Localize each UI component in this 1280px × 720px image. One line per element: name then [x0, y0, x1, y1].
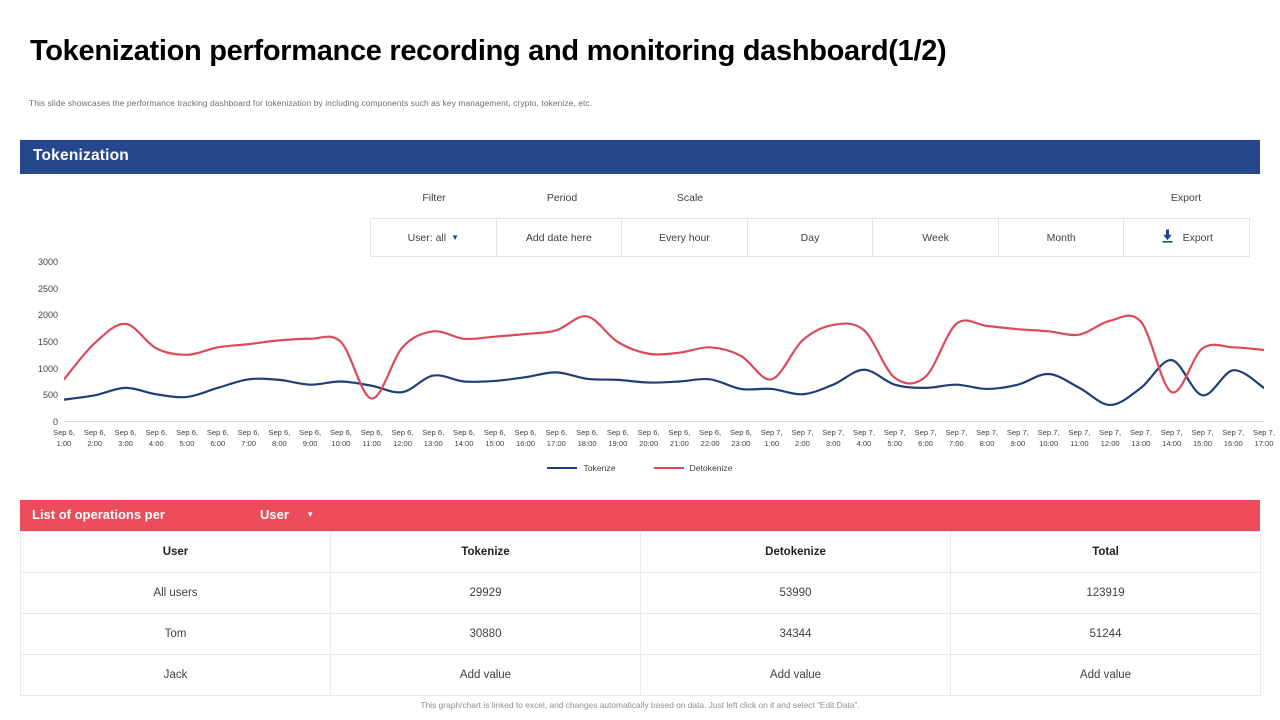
download-icon	[1161, 229, 1174, 246]
section-header-bar: Tokenization	[20, 140, 1260, 174]
x-tick-label: Sep 6, 5:00	[172, 427, 203, 449]
x-tick-label: Sep 6, 14:00	[449, 427, 480, 449]
cell-total: 123919	[951, 573, 1261, 614]
x-tick-label: Sep 6, 8:00	[264, 427, 295, 449]
page-subtitle: This slide showcases the performance tra…	[29, 98, 1229, 108]
legend-item-tokenize: Tokenze	[547, 463, 615, 473]
x-tick-label: Sep 6, 12:00	[387, 427, 418, 449]
scale-week-label: Week	[922, 232, 949, 244]
y-tick-label: 500	[43, 390, 58, 400]
x-tick-label: Sep 7, 11:00	[1064, 427, 1095, 449]
operations-group-dropdown[interactable]: User	[260, 507, 289, 522]
filter-user-label: User: all	[408, 232, 447, 244]
x-tick-label: Sep 6, 6:00	[202, 427, 233, 449]
x-tick-label: Sep 6, 20:00	[633, 427, 664, 449]
scale-every-hour-button[interactable]: Every hour	[621, 219, 747, 256]
x-tick-label: Sep 7, 3:00	[818, 427, 849, 449]
cell-user: All users	[21, 573, 331, 614]
cell-detokenize: 53990	[641, 573, 951, 614]
column-header-detokenize: Detokenize	[641, 532, 951, 573]
y-tick-label: 1500	[38, 337, 58, 347]
chevron-down-icon: ▼	[451, 234, 459, 242]
x-tick-label: Sep 6, 7:00	[233, 427, 264, 449]
scale-month-label: Month	[1047, 232, 1076, 244]
table-row[interactable]: All users 29929 53990 123919	[21, 573, 1261, 614]
table-row[interactable]: Tom 30880 34344 51244	[21, 614, 1261, 655]
scale-every-hour-label: Every hour	[659, 232, 710, 244]
cell-detokenize[interactable]: Add value	[641, 655, 951, 696]
cell-user: Jack	[21, 655, 331, 696]
chart-plot-area	[64, 262, 1264, 422]
x-tick-label: Sep 6, 10:00	[326, 427, 357, 449]
caption-filter: Filter	[370, 192, 498, 204]
legend-label-detokenize: Detokenize	[690, 463, 733, 473]
y-tick-label: 3000	[38, 257, 58, 267]
line-chart: 050010001500200025003000 Sep 6, 1:00Sep …	[20, 262, 1260, 437]
chart-series-line-detokenize	[64, 316, 1264, 399]
y-tick-label: 1000	[38, 364, 58, 374]
page-title: Tokenization performance recording and m…	[30, 36, 1240, 68]
y-tick-label: 0	[53, 417, 58, 427]
column-header-total: Total	[951, 532, 1261, 573]
chart-toolbar: User: all ▼ Add date here Every hour Day…	[370, 218, 1250, 257]
x-tick-label: Sep 7, 8:00	[972, 427, 1003, 449]
cell-tokenize: 30880	[331, 614, 641, 655]
table-header-row: User Tokenize Detokenize Total	[21, 532, 1261, 573]
export-button-label: Export	[1183, 232, 1213, 244]
scale-month-button[interactable]: Month	[998, 219, 1124, 256]
column-header-tokenize: Tokenize	[331, 532, 641, 573]
x-tick-label: Sep 6, 9:00	[295, 427, 326, 449]
x-tick-label: Sep 6, 15:00	[479, 427, 510, 449]
export-button[interactable]: Export	[1123, 219, 1250, 256]
footer-note: This graph/chart is linked to excel, and…	[0, 700, 1280, 710]
x-tick-label: Sep 7, 10:00	[1033, 427, 1064, 449]
x-tick-label: Sep 6, 16:00	[510, 427, 541, 449]
legend-swatch-tokenize	[547, 467, 577, 469]
x-tick-label: Sep 7, 15:00	[1187, 427, 1218, 449]
toolbar-captions: Filter Period Scale Export	[370, 192, 1250, 210]
x-tick-label: Sep 6, 23:00	[726, 427, 757, 449]
cell-tokenize: 29929	[331, 573, 641, 614]
caption-export: Export	[1122, 192, 1250, 204]
x-tick-label: Sep 7, 17:00	[1249, 427, 1280, 449]
period-date-input[interactable]: Add date here	[496, 219, 622, 256]
operations-header-bar: List of operations per User ▾	[20, 500, 1260, 531]
legend-label-tokenize: Tokenze	[583, 463, 615, 473]
chevron-down-icon[interactable]: ▾	[308, 509, 313, 520]
x-tick-label: Sep 6, 2:00	[79, 427, 110, 449]
caption-scale: Scale	[626, 192, 754, 204]
filter-user-dropdown[interactable]: User: all ▼	[370, 219, 496, 256]
chart-legend: Tokenze Detokenize	[20, 459, 1260, 477]
x-tick-label: Sep 7, 6:00	[910, 427, 941, 449]
slide-root: Tokenization performance recording and m…	[0, 0, 1280, 720]
x-tick-label: Sep 6, 13:00	[418, 427, 449, 449]
legend-swatch-detokenize	[654, 467, 684, 469]
column-header-user: User	[21, 532, 331, 573]
chart-y-axis: 050010001500200025003000	[20, 262, 58, 422]
cell-detokenize: 34344	[641, 614, 951, 655]
x-tick-label: Sep 6, 4:00	[141, 427, 172, 449]
x-tick-label: Sep 7, 13:00	[1126, 427, 1157, 449]
scale-day-label: Day	[801, 232, 820, 244]
x-tick-label: Sep 7, 7:00	[941, 427, 972, 449]
x-tick-label: Sep 6, 17:00	[541, 427, 572, 449]
x-tick-label: Sep 6, 21:00	[664, 427, 695, 449]
x-tick-label: Sep 6, 22:00	[695, 427, 726, 449]
table-row[interactable]: Jack Add value Add value Add value	[21, 655, 1261, 696]
x-tick-label: Sep 7, 14:00	[1156, 427, 1187, 449]
x-tick-label: Sep 7, 1:00	[756, 427, 787, 449]
scale-week-button[interactable]: Week	[872, 219, 998, 256]
x-tick-label: Sep 6, 11:00	[356, 427, 387, 449]
period-date-label: Add date here	[526, 232, 592, 244]
x-tick-label: Sep 6, 18:00	[572, 427, 603, 449]
x-tick-label: Sep 6, 19:00	[602, 427, 633, 449]
x-tick-label: Sep 7, 4:00	[849, 427, 880, 449]
x-tick-label: Sep 6, 3:00	[110, 427, 141, 449]
legend-item-detokenize: Detokenize	[654, 463, 733, 473]
cell-user: Tom	[21, 614, 331, 655]
x-tick-label: Sep 7, 5:00	[879, 427, 910, 449]
x-tick-label: Sep 7, 2:00	[787, 427, 818, 449]
operations-title: List of operations per	[32, 507, 165, 522]
x-tick-label: Sep 7, 9:00	[1002, 427, 1033, 449]
cell-tokenize[interactable]: Add value	[331, 655, 641, 696]
cell-total: 51244	[951, 614, 1261, 655]
caption-period: Period	[498, 192, 626, 204]
y-tick-label: 2000	[38, 310, 58, 320]
y-tick-label: 2500	[38, 284, 58, 294]
x-tick-label: Sep 7, 16:00	[1218, 427, 1249, 449]
cell-total[interactable]: Add value	[951, 655, 1261, 696]
chart-series-line-tokenze	[64, 360, 1264, 405]
x-tick-label: Sep 7, 12:00	[1095, 427, 1126, 449]
x-tick-label: Sep 6, 1:00	[49, 427, 80, 449]
scale-day-button[interactable]: Day	[747, 219, 873, 256]
chart-x-axis: Sep 6, 1:00Sep 6, 2:00Sep 6, 3:00Sep 6, …	[64, 427, 1264, 457]
operations-table: User Tokenize Detokenize Total All users…	[20, 531, 1261, 696]
section-title: Tokenization	[33, 147, 129, 165]
